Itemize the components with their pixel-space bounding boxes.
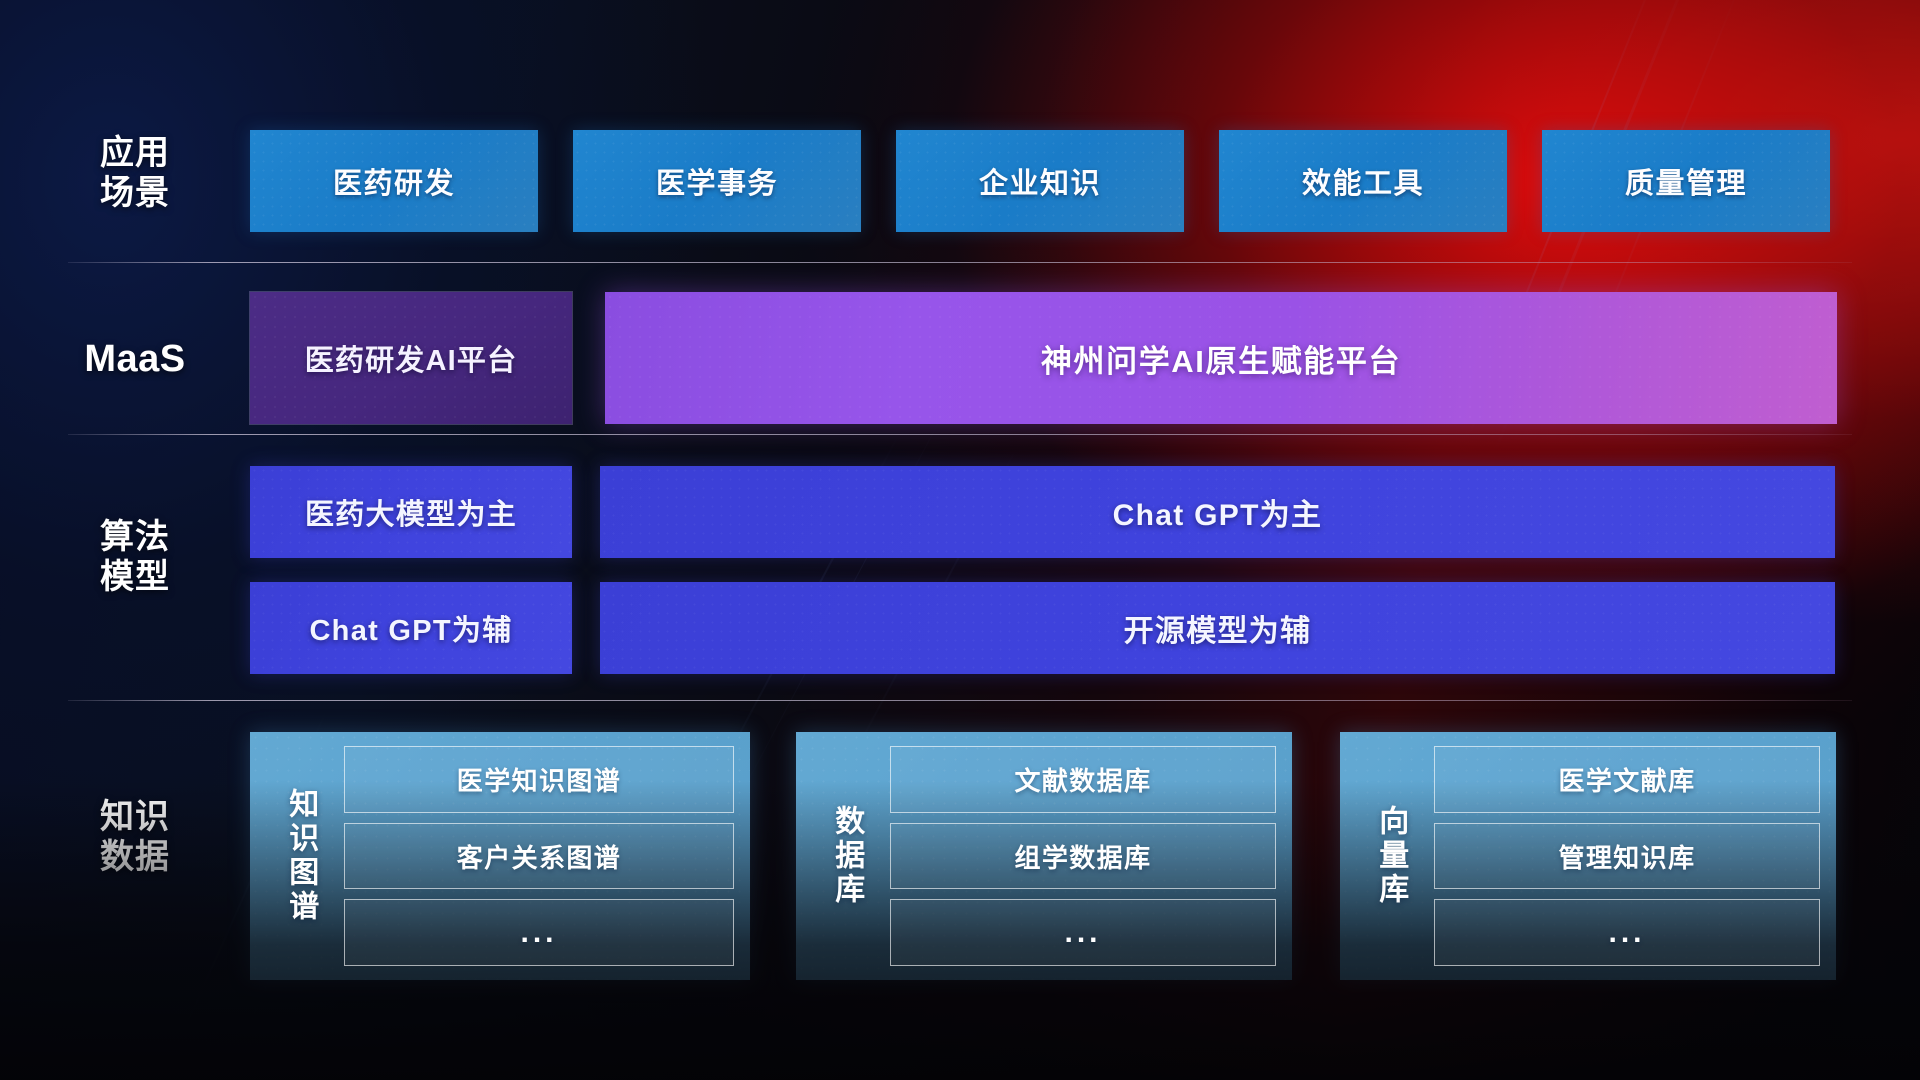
knowledge-item-label: 客户关系图谱 <box>457 838 621 875</box>
row-label-line-1: 知识 <box>50 797 220 837</box>
scenario-box-label: 医药研发 <box>333 160 455 202</box>
algo-box-pharma-llm-primary[interactable]: 医药大模型为主 <box>250 466 572 558</box>
algo-box-chatgpt-primary[interactable]: Chat GPT为主 <box>600 466 1835 558</box>
knowledge-item-label: ... <box>520 916 557 950</box>
knowledge-group-items: 医学知识图谱 客户关系图谱 ... <box>336 746 734 966</box>
knowledge-item-label: ... <box>1064 916 1101 950</box>
knowledge-item-label: ... <box>1608 916 1645 950</box>
scenario-box-quality-management[interactable]: 质量管理 <box>1542 130 1830 232</box>
divider-3 <box>68 700 1852 701</box>
architecture-diagram: 应用 场景 医药研发 医学事务 企业知识 效能工具 质量管理 MaaS 医药研发… <box>0 0 1920 1080</box>
scenario-box-label: 效能工具 <box>1302 160 1424 202</box>
knowledge-group-vertical-label: 向量库 <box>1354 746 1426 966</box>
knowledge-item-omics-db[interactable]: 组学数据库 <box>890 823 1276 890</box>
maas-box-drug-rd-ai-platform[interactable]: 医药研发AI平台 <box>250 292 572 424</box>
knowledge-item-more[interactable]: ... <box>1434 899 1820 966</box>
row-label-line-1: 算法 <box>50 517 220 557</box>
knowledge-group-items: 医学文献库 管理知识库 ... <box>1426 746 1820 966</box>
algo-box-opensource-secondary[interactable]: 开源模型为辅 <box>600 582 1835 674</box>
scenario-box-enterprise-knowledge[interactable]: 企业知识 <box>896 130 1184 232</box>
maas-box-label: 医药研发AI平台 <box>305 337 518 379</box>
algo-box-label: 开源模型为辅 <box>1124 606 1312 650</box>
knowledge-group-items: 文献数据库 组学数据库 ... <box>882 746 1276 966</box>
knowledge-group-vertical-label: 知识图谱 <box>264 746 336 966</box>
algo-box-chatgpt-secondary[interactable]: Chat GPT为辅 <box>250 582 572 674</box>
knowledge-item-label: 管理知识库 <box>1558 838 1695 875</box>
knowledge-item-management-knowledge-store[interactable]: 管理知识库 <box>1434 823 1820 890</box>
row-label-line-1: 应用 <box>50 133 220 173</box>
knowledge-item-more[interactable]: ... <box>890 899 1276 966</box>
row-label-line-2: 数据 <box>50 837 220 877</box>
algo-box-label: Chat GPT为辅 <box>309 607 512 649</box>
row-label-algorithm-model: 算法 模型 <box>50 517 220 597</box>
knowledge-item-label: 文献数据库 <box>1014 761 1151 798</box>
knowledge-item-literature-db[interactable]: 文献数据库 <box>890 746 1276 813</box>
knowledge-item-label: 医学知识图谱 <box>457 761 621 798</box>
scenario-box-label: 质量管理 <box>1625 160 1747 202</box>
knowledge-group-knowledge-graph[interactable]: 知识图谱 医学知识图谱 客户关系图谱 ... <box>250 732 750 980</box>
scenario-box-label: 企业知识 <box>979 160 1101 202</box>
scenario-box-efficiency-tools[interactable]: 效能工具 <box>1219 130 1507 232</box>
row-label-maas: MaaS <box>50 337 220 382</box>
scenario-box-label: 医学事务 <box>656 160 778 202</box>
knowledge-item-customer-relation-kg[interactable]: 客户关系图谱 <box>344 823 734 890</box>
knowledge-item-medical-literature-store[interactable]: 医学文献库 <box>1434 746 1820 813</box>
row-label-application-scenarios: 应用 场景 <box>50 133 220 213</box>
maas-box-label: 神州问学AI原生赋能平台 <box>1041 336 1401 381</box>
knowledge-item-more[interactable]: ... <box>344 899 734 966</box>
knowledge-group-vector-store[interactable]: 向量库 医学文献库 管理知识库 ... <box>1340 732 1836 980</box>
row-label-text: MaaS <box>50 337 220 382</box>
knowledge-item-label: 医学文献库 <box>1558 761 1695 798</box>
maas-box-shenzhou-wenxue-platform[interactable]: 神州问学AI原生赋能平台 <box>605 292 1837 424</box>
algo-box-label: 医药大模型为主 <box>305 491 517 533</box>
row-label-knowledge-data: 知识 数据 <box>50 797 220 877</box>
scenario-box-drug-rd[interactable]: 医药研发 <box>250 130 538 232</box>
row-label-line-2: 场景 <box>50 173 220 213</box>
knowledge-item-medical-kg[interactable]: 医学知识图谱 <box>344 746 734 813</box>
divider-1 <box>68 262 1852 263</box>
algo-box-label: Chat GPT为主 <box>1113 490 1323 534</box>
divider-2 <box>68 434 1852 435</box>
scenario-box-medical-affairs[interactable]: 医学事务 <box>573 130 861 232</box>
row-label-line-2: 模型 <box>50 557 220 597</box>
knowledge-group-vertical-label: 数据库 <box>810 746 882 966</box>
knowledge-group-database[interactable]: 数据库 文献数据库 组学数据库 ... <box>796 732 1292 980</box>
knowledge-item-label: 组学数据库 <box>1014 838 1151 875</box>
